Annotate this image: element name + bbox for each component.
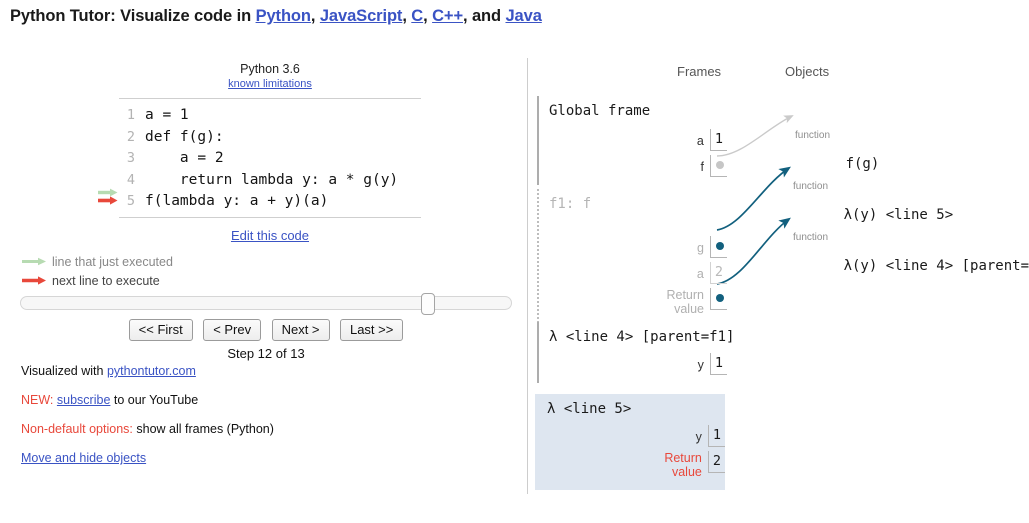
subscribe-suffix: to our YouTube	[110, 393, 198, 407]
title-sep-3: , and	[463, 7, 506, 25]
frame-lambda-line5-active: λ <line 5> y 1 Return value 2	[535, 394, 725, 490]
legend-label-just-executed: line that just executed	[52, 255, 173, 269]
line-text: a = 1	[145, 105, 189, 127]
pointer-dot-icon	[716, 242, 724, 250]
variable-name: a	[697, 134, 710, 151]
line-number: 3	[119, 148, 145, 170]
object-lambda-line4: function λ(y) <line 4> [parent=f1]	[793, 200, 1029, 290]
step-slider[interactable]	[20, 296, 512, 310]
code-line: 3 a = 2	[119, 148, 421, 170]
variable-value: 2	[710, 262, 727, 284]
lang-link-javascript[interactable]: JavaScript	[320, 7, 402, 25]
title-sep-2: ,	[423, 7, 432, 25]
frames-column-header: Frames	[677, 64, 721, 79]
line-text: a = 2	[145, 148, 224, 170]
frame-variable-row: Return value 2	[547, 451, 725, 482]
variable-pointer	[710, 288, 727, 310]
page-title: Python Tutor: Visualize code in Python, …	[10, 7, 542, 26]
navigation-buttons: << First < Prev Next > Last >>	[20, 319, 512, 341]
frame-title: Global frame	[549, 102, 727, 121]
code-display: 1 a = 1 2 def f(g): 3 a = 2 4 return lam…	[119, 98, 421, 218]
frame-variable-row: g	[549, 236, 727, 258]
visualization-pane: Frames Objects Global frame a 1	[527, 56, 1029, 523]
frame-variable-row: Return value	[549, 288, 727, 319]
code-line: 4 return lambda y: a * g(y)	[119, 170, 421, 192]
edit-this-code-link[interactable]: Edit this code	[231, 228, 309, 243]
lang-link-cpp[interactable]: C++	[432, 7, 463, 25]
known-limitations-link[interactable]: known limitations	[228, 78, 312, 90]
known-limitations: known limitations	[120, 78, 420, 90]
lang-link-java[interactable]: Java	[505, 7, 541, 25]
code-pane: Python 3.6 known limitations 1 a = 1 2 d…	[0, 56, 527, 523]
frame-variable-row: a 2	[549, 262, 727, 284]
first-button[interactable]: << First	[129, 319, 193, 341]
variable-pointer	[710, 155, 727, 177]
subscribe-link[interactable]: subscribe	[57, 393, 111, 407]
step-slider-thumb[interactable]	[421, 293, 435, 315]
line-number: 2	[119, 127, 145, 149]
options-row: Non-default options: show all frames (Py…	[21, 422, 274, 437]
variable-name: a	[697, 267, 710, 284]
last-button[interactable]: Last >>	[340, 319, 403, 341]
visualized-with-label: Visualized with	[21, 364, 107, 378]
variable-value: 1	[708, 425, 725, 447]
pointer-dot-icon	[716, 294, 724, 302]
line-text: return lambda y: a * g(y)	[145, 170, 398, 192]
frame-variable-row: a 1	[549, 129, 727, 151]
variable-name: y	[696, 430, 708, 447]
variable-value: 1	[710, 353, 727, 375]
line-number: 5	[119, 191, 145, 213]
objects-column-header: Objects	[785, 64, 829, 79]
object-kind-label: function	[795, 130, 879, 141]
lang-link-python[interactable]: Python	[256, 7, 311, 25]
move-hide-row: Move and hide objects	[21, 451, 274, 466]
legend-row-next-line: next line to execute	[21, 271, 173, 290]
footer-links: Visualized with pythontutor.com NEW: sub…	[21, 364, 274, 480]
non-default-options-value: show all frames (Python)	[133, 422, 274, 436]
code-line: 1 a = 1	[119, 105, 421, 127]
frame-f1: f1: f g a 2 Return value	[537, 189, 727, 327]
variable-name: f	[701, 160, 710, 177]
line-text: f(lambda y: a + y)(a)	[145, 191, 328, 213]
legend-red-arrow-icon	[21, 275, 47, 286]
subscribe-row: NEW: subscribe to our YouTube	[21, 393, 274, 408]
move-and-hide-objects-link[interactable]: Move and hide objects	[21, 451, 146, 465]
object-kind-label: function	[793, 181, 953, 192]
object-label: λ(y) <line 4> [parent=f1]	[844, 258, 1029, 274]
legend: line that just executed next line to exe…	[21, 252, 173, 290]
lang-link-c[interactable]: C	[411, 7, 423, 25]
variable-value: 1	[710, 129, 727, 151]
frame-title: f1: f	[549, 195, 727, 214]
edit-code: Edit this code	[120, 228, 420, 243]
pythontutor-link[interactable]: pythontutor.com	[107, 364, 196, 378]
step-counter: Step 12 of 13	[20, 346, 512, 361]
python-version-label: Python 3.6	[120, 62, 420, 76]
new-badge: NEW:	[21, 393, 53, 407]
variable-name: g	[697, 241, 710, 258]
line-text: def f(g):	[145, 127, 224, 149]
visualized-with-row: Visualized with pythontutor.com	[21, 364, 274, 379]
title-sep-1: ,	[402, 7, 411, 25]
variable-name-return-value: Return value	[666, 288, 710, 319]
legend-row-just-executed: line that just executed	[21, 252, 173, 271]
line-number: 1	[119, 105, 145, 127]
pointer-dot-icon	[716, 161, 724, 169]
variable-name: y	[698, 358, 710, 375]
variable-name-return-value: Return value	[664, 451, 708, 482]
code-line-current: 5 f(lambda y: a + y)(a)	[119, 191, 421, 213]
page-title-prefix: Python Tutor: Visualize code in	[10, 7, 256, 25]
prev-button[interactable]: < Prev	[203, 319, 261, 341]
frame-variable-row: y 1	[549, 353, 727, 375]
code-line: 2 def f(g):	[119, 127, 421, 149]
line-number: 4	[119, 170, 145, 192]
legend-green-arrow-icon	[21, 256, 47, 267]
non-default-options-label: Non-default options:	[21, 422, 133, 436]
frame-global: Global frame a 1 f	[537, 96, 727, 185]
frame-lambda-line4: λ <line 4> [parent=f1] y 1	[537, 322, 727, 383]
variable-pointer	[710, 236, 727, 258]
object-kind-label: function	[793, 232, 1029, 243]
next-line-arrow-icon	[98, 196, 118, 205]
python-tutor-page: Python Tutor: Visualize code in Python, …	[0, 0, 1029, 523]
legend-label-next-line: next line to execute	[52, 274, 160, 288]
next-button[interactable]: Next >	[272, 319, 330, 341]
frame-title: λ <line 4> [parent=f1]	[549, 328, 727, 347]
title-sep-0: ,	[311, 7, 320, 25]
frame-variable-row: y 1	[547, 425, 725, 447]
frame-title: λ <line 5>	[547, 400, 725, 419]
frame-variable-row: f	[549, 155, 727, 177]
variable-value: 2	[708, 451, 725, 473]
